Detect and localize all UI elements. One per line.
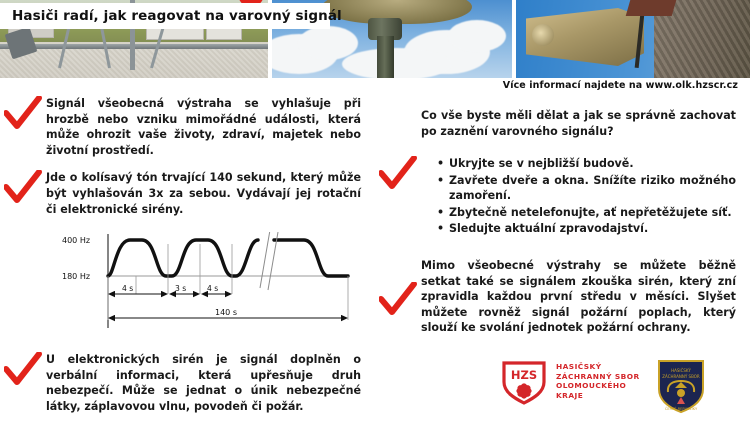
red-check-icon xyxy=(0,352,46,386)
fire-rescue-service-badge-icon: HASIČSKÝ ZÁCHRANNÝ SBOR ČESKÉ REPUBLIKY xyxy=(656,358,706,414)
list-item: Zavřete dveře a okna. Snížíte riziko mož… xyxy=(437,173,736,204)
red-check-icon xyxy=(375,258,421,304)
list-item: Ukryjte se v nejbližší budově. xyxy=(437,156,736,172)
infographic-page: Hasiči radí, jak reagovat na varovný sig… xyxy=(0,0,750,422)
info-block-text: U elektronických sirén je signál doplněn… xyxy=(46,352,375,414)
action-list: Ukryjte se v nejbližší budově. Zavřete d… xyxy=(421,156,750,238)
siren-tone-waveform-chart: 400 Hz 180 Hz 4 xyxy=(60,232,370,336)
svg-text:ZÁCHRANNÝ SBOR: ZÁCHRANNÝ SBOR xyxy=(662,374,700,379)
question-block: Co vše byste měli dělat a jak se správně… xyxy=(375,108,750,142)
right-column: Co vše byste měli dělat a jak se správně… xyxy=(375,108,750,346)
info-block-text: Jde o kolísavý tón trvající 140 sekund, … xyxy=(46,170,375,217)
action-list-block: Ukryjte se v nejbližší budově. Zavřete d… xyxy=(375,156,750,238)
org-line-2: ZÁCHRANNÝ SBOR xyxy=(556,372,640,382)
y-tick-400hz: 400 Hz xyxy=(62,236,90,245)
organisation-name: HASIČSKÝ ZÁCHRANNÝ SBOR OLOMOUCKÉHO KRAJ… xyxy=(556,362,640,400)
title-bar: Hasiči radí, jak reagovat na varovný sig… xyxy=(0,3,330,29)
footer-logos: HZS HASIČSKÝ ZÁCHRANNÝ SBOR OLOMOUCKÉHO … xyxy=(498,358,748,414)
page-title: Hasiči radí, jak reagovat na varovný sig… xyxy=(12,8,342,24)
svg-text:HASIČSKÝ: HASIČSKÝ xyxy=(671,368,691,373)
y-tick-180hz: 180 Hz xyxy=(62,272,90,281)
list-item: Sledujte aktuální zpravodajství. xyxy=(437,221,736,237)
info-block-general-warning: Signál všeobecná výstraha se vyhlašuje p… xyxy=(0,96,375,158)
svg-text:ČESKÉ REPUBLIKY: ČESKÉ REPUBLIKY xyxy=(665,406,698,411)
segment-label-4s-a: 4 s xyxy=(122,284,133,293)
header-photo-banner: Hasiči radí, jak reagovat na varovný sig… xyxy=(0,0,750,78)
org-line-1: HASIČSKÝ xyxy=(556,362,640,372)
info-block-text: Signál všeobecná výstraha se vyhlašuje p… xyxy=(46,96,375,158)
info-block-tone-description: Jde o kolísavý tón trvající 140 sekund, … xyxy=(0,170,375,217)
electronic-siren-horn-photo xyxy=(516,0,750,78)
question-text: Co vše byste měli dělat a jak se správně… xyxy=(375,108,750,139)
info-block-verbal-information: U elektronických sirén je signál doplněn… xyxy=(0,352,375,414)
segment-label-3s: 3 s xyxy=(175,284,186,293)
list-item: Zbytečně netelefonujte, ať nepřetěžujete… xyxy=(437,205,736,221)
org-line-4: KRAJE xyxy=(556,391,640,401)
closing-text: Mimo všeobecné výstrahy se můžete běžně … xyxy=(421,258,750,336)
org-line-3: OLOMOUCKÉHO xyxy=(556,381,640,391)
hzs-logo-icon: HZS xyxy=(498,360,550,410)
hzs-logo-text: HZS xyxy=(511,368,537,382)
left-column: Signál všeobecná výstraha se vyhlašuje p… xyxy=(0,96,375,227)
total-duration-label: 140 s xyxy=(215,308,237,317)
closing-info-block: Mimo všeobecné výstrahy se můžete běžně … xyxy=(375,258,750,336)
more-info-url[interactable]: Více informací najdete na www.olk.hzscr.… xyxy=(503,80,738,91)
red-check-icon xyxy=(375,156,421,196)
segment-label-4s-b: 4 s xyxy=(207,284,218,293)
red-check-icon xyxy=(0,96,46,130)
red-check-icon xyxy=(0,170,46,204)
